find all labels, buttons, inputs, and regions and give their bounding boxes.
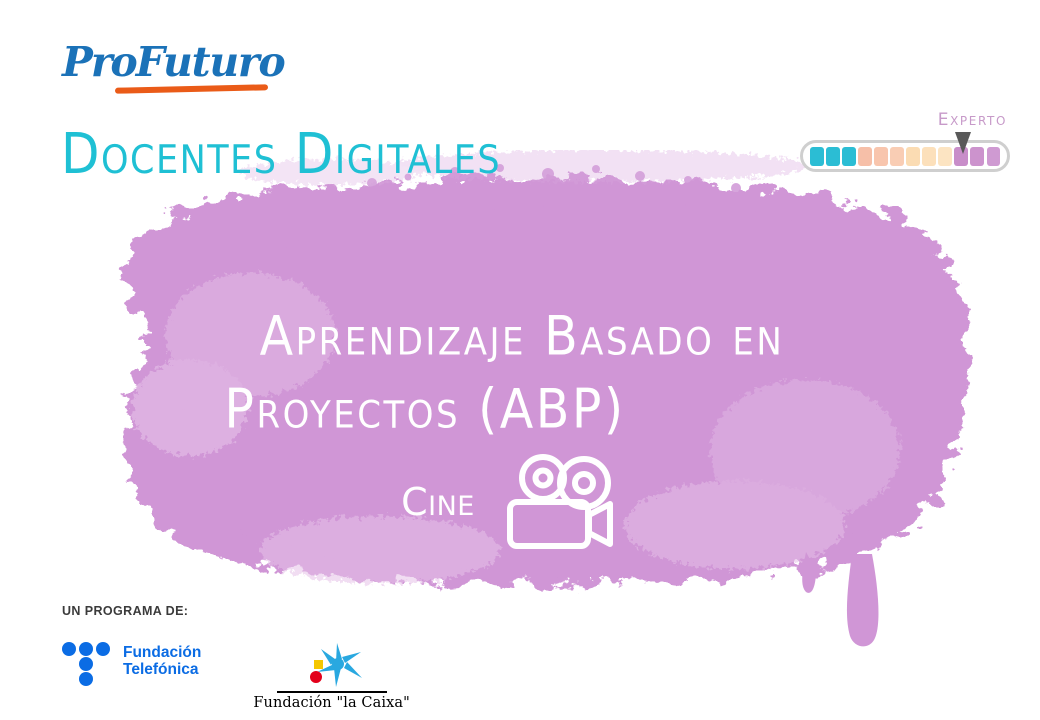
profuturo-pro-text: Pro: [62, 38, 136, 86]
brush-texture-left: [165, 273, 335, 397]
la-caixa-red-circle: [310, 671, 322, 683]
level-label: Experto: [938, 110, 1007, 130]
footer-label: UN PROGRAMA DE:: [62, 604, 410, 618]
fundacion-la-caixa-logo: Fundación "la Caixa": [253, 640, 410, 711]
la-caixa-star-mark: [301, 642, 363, 688]
headline-line-2: Proyectos (ABP): [0, 369, 1040, 449]
movie-camera-icon: [501, 452, 619, 552]
profuturo-wordmark: ProFuturo: [62, 42, 284, 83]
level-segment: [858, 147, 872, 166]
la-caixa-yellow-square: [314, 660, 323, 669]
brush-stroke-svg: [0, 150, 1040, 650]
profuturo-logo: ProFuturo: [62, 42, 284, 83]
telefonica-word-line2: Telefónica: [123, 661, 201, 678]
brush-drip: [802, 552, 878, 646]
level-segment: [826, 147, 840, 166]
headline-line-1: Aprendizaje Basado en: [0, 296, 1040, 376]
telefonica-dot: [79, 672, 93, 686]
level-segment: [970, 147, 984, 166]
subtitle-block: Cine: [0, 452, 1040, 552]
telefonica-dot: [96, 642, 110, 656]
brush-stroke-background: [0, 150, 1040, 650]
footer-block: UN PROGRAMA DE: Fundación Telefónica: [62, 604, 410, 711]
telefonica-wordmark: Fundación Telefónica: [123, 644, 201, 679]
camera-reel-left-hub: [535, 471, 550, 486]
telefonica-word-line1: Fundación: [123, 644, 201, 661]
slide-canvas: ProFuturo Docentes Digitales Experto Apr…: [0, 0, 1040, 720]
la-caixa-rule: [277, 691, 387, 693]
telefonica-dot: [79, 642, 93, 656]
level-segment: [987, 147, 1001, 166]
telefonica-dot: [62, 642, 76, 656]
profuturo-futuro-text: Futuro: [136, 38, 285, 86]
sponsor-row: Fundación Telefónica: [62, 640, 410, 711]
level-progress-bar[interactable]: [800, 140, 1010, 172]
level-segment: [874, 147, 888, 166]
la-caixa-wordmark: Fundación "la Caixa": [253, 695, 410, 711]
camera-lens-horn: [589, 504, 610, 544]
level-segment: [906, 147, 920, 166]
level-segment: [922, 147, 936, 166]
fundacion-telefonica-logo: Fundación Telefónica: [62, 640, 201, 682]
level-pointer-icon: [955, 132, 971, 154]
headline-block: Aprendizaje Basado en Proyectos (ABP): [0, 300, 1040, 446]
level-segment: [810, 147, 824, 166]
subtitle-label: Cine: [401, 480, 475, 524]
level-segment: [890, 147, 904, 166]
level-indicator: Experto: [795, 110, 1015, 176]
page-title: Docentes Digitales: [61, 126, 501, 182]
level-segment: [842, 147, 856, 166]
level-segment: [938, 147, 952, 166]
camera-reel-right-hub: [575, 474, 593, 492]
telefonica-dot: [79, 657, 93, 671]
la-caixa-star: [317, 643, 362, 687]
brush-texture-left2: [132, 360, 248, 456]
telefonica-dots-mark: [62, 640, 112, 682]
